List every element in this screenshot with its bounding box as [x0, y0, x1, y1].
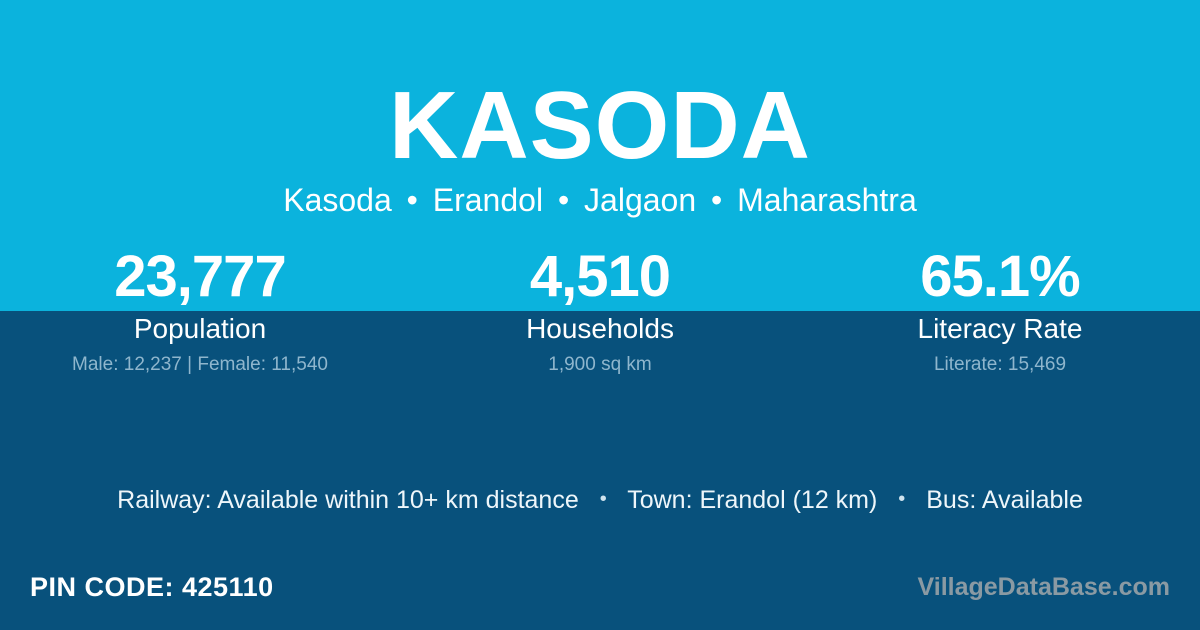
- infrastructure-separator: •: [586, 488, 621, 510]
- breadcrumb-item-taluka: Erandol: [433, 182, 543, 218]
- page-title: KASODA: [0, 78, 1200, 174]
- breadcrumb-separator: •: [401, 182, 424, 218]
- stat-subtext: 1,900 sq km: [400, 353, 800, 377]
- statistics-row: 23,777 Population Male: 12,237 | Female:…: [0, 244, 1200, 377]
- village-info-card: KASODA Kasoda • Erandol • Jalgaon • Maha…: [0, 0, 1200, 630]
- pin-code: PIN CODE: 425110: [30, 571, 274, 603]
- stat-literacy-rate: 65.1% Literacy Rate Literate: 15,469: [800, 244, 1200, 377]
- stat-value: 65.1%: [800, 244, 1200, 310]
- site-brand: VillageDataBase.com: [918, 571, 1170, 603]
- breadcrumb-separator: •: [705, 182, 728, 218]
- stat-label: Literacy Rate: [800, 312, 1200, 346]
- breadcrumb-item-state: Maharashtra: [737, 182, 917, 218]
- infrastructure-separator: •: [884, 488, 919, 510]
- breadcrumb-item-district: Jalgaon: [584, 182, 696, 218]
- stat-subtext: Literate: 15,469: [800, 353, 1200, 377]
- stat-value: 23,777: [0, 244, 400, 310]
- stat-subtext: Male: 12,237 | Female: 11,540: [0, 353, 400, 377]
- infrastructure-railway: Railway: Available within 10+ km distanc…: [117, 486, 579, 514]
- infrastructure-bus: Bus: Available: [926, 486, 1083, 514]
- breadcrumb: Kasoda • Erandol • Jalgaon • Maharashtra: [0, 180, 1200, 220]
- stat-population: 23,777 Population Male: 12,237 | Female:…: [0, 244, 400, 377]
- stat-label: Population: [0, 312, 400, 346]
- stat-label: Households: [400, 312, 800, 346]
- stat-households: 4,510 Households 1,900 sq km: [400, 244, 800, 377]
- breadcrumb-separator: •: [552, 182, 575, 218]
- stat-value: 4,510: [400, 244, 800, 310]
- infrastructure-row: Railway: Available within 10+ km distanc…: [0, 484, 1200, 518]
- breadcrumb-item-village: Kasoda: [283, 182, 392, 218]
- infrastructure-town: Town: Erandol (12 km): [627, 486, 877, 514]
